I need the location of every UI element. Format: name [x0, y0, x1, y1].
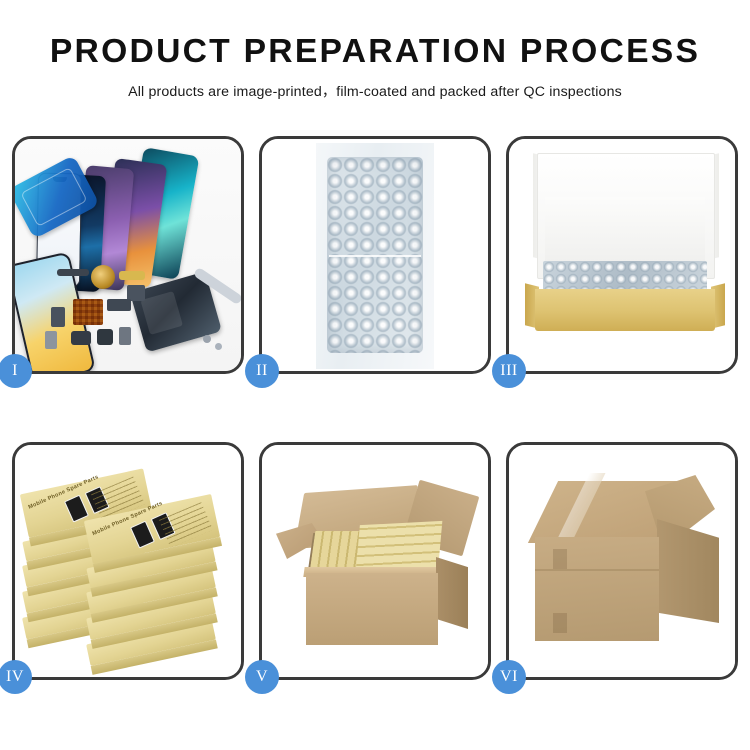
step-5-image — [262, 445, 488, 677]
sealed-carton-seam — [535, 569, 659, 571]
process-steps-grid: I II III — [12, 136, 738, 692]
step-badge-4: IV — [0, 660, 32, 694]
screw-part-1 — [203, 335, 211, 343]
step-6-image — [509, 445, 735, 677]
step-panel-5: V — [259, 442, 491, 680]
carton-front-panel — [306, 573, 438, 645]
sealed-carton-side-right — [657, 519, 719, 623]
connector-part-f — [71, 331, 91, 345]
page-subtitle: All products are image-printed，film-coat… — [0, 81, 750, 101]
connector-part-i — [45, 331, 57, 349]
step-panel-1: I — [12, 136, 244, 374]
carton-side-right — [436, 557, 468, 629]
bubble-wrap-pouch — [327, 157, 423, 353]
flex-cable-part-b — [119, 271, 145, 280]
mailer-front-panel — [535, 289, 715, 331]
header: PRODUCT PREPARATION PROCESS All products… — [0, 0, 750, 101]
carton-corner-tab-top — [553, 549, 567, 569]
speaker-coil-part — [91, 265, 115, 289]
step-4-image: Mobile Phone Spare Parts — [15, 445, 241, 677]
step-badge-3: III — [492, 354, 526, 388]
flex-cable-part-d — [51, 307, 65, 327]
step-panel-3: III — [506, 136, 738, 374]
connector-part-g — [97, 329, 113, 345]
step-2-image — [262, 139, 488, 371]
step-badge-1: I — [0, 354, 32, 388]
step-panel-4: Mobile Phone Spare Parts — [12, 442, 244, 680]
packed-retail-boxes-row-2 — [356, 521, 443, 573]
step-badge-6: VI — [492, 660, 526, 694]
product-preparation-infographic: PRODUCT PREPARATION PROCESS All products… — [0, 0, 750, 750]
step-panel-6: VI — [506, 442, 738, 680]
flex-cable-part-a — [57, 269, 89, 276]
copper-chip-grid-part — [73, 299, 103, 325]
carton-corner-tab-bottom — [553, 613, 567, 633]
page-title: PRODUCT PREPARATION PROCESS — [0, 34, 750, 67]
step-1-image — [15, 139, 241, 371]
connector-part-h — [119, 327, 131, 345]
step-badge-2: II — [245, 354, 279, 388]
step-3-image — [509, 139, 735, 371]
mailer-foam-liner — [545, 197, 705, 263]
step-panel-2: II — [259, 136, 491, 374]
step-badge-5: V — [245, 660, 279, 694]
screw-part-2 — [215, 343, 222, 350]
bubble-wrap-seam — [329, 255, 421, 257]
flex-cable-part-e — [107, 299, 131, 311]
